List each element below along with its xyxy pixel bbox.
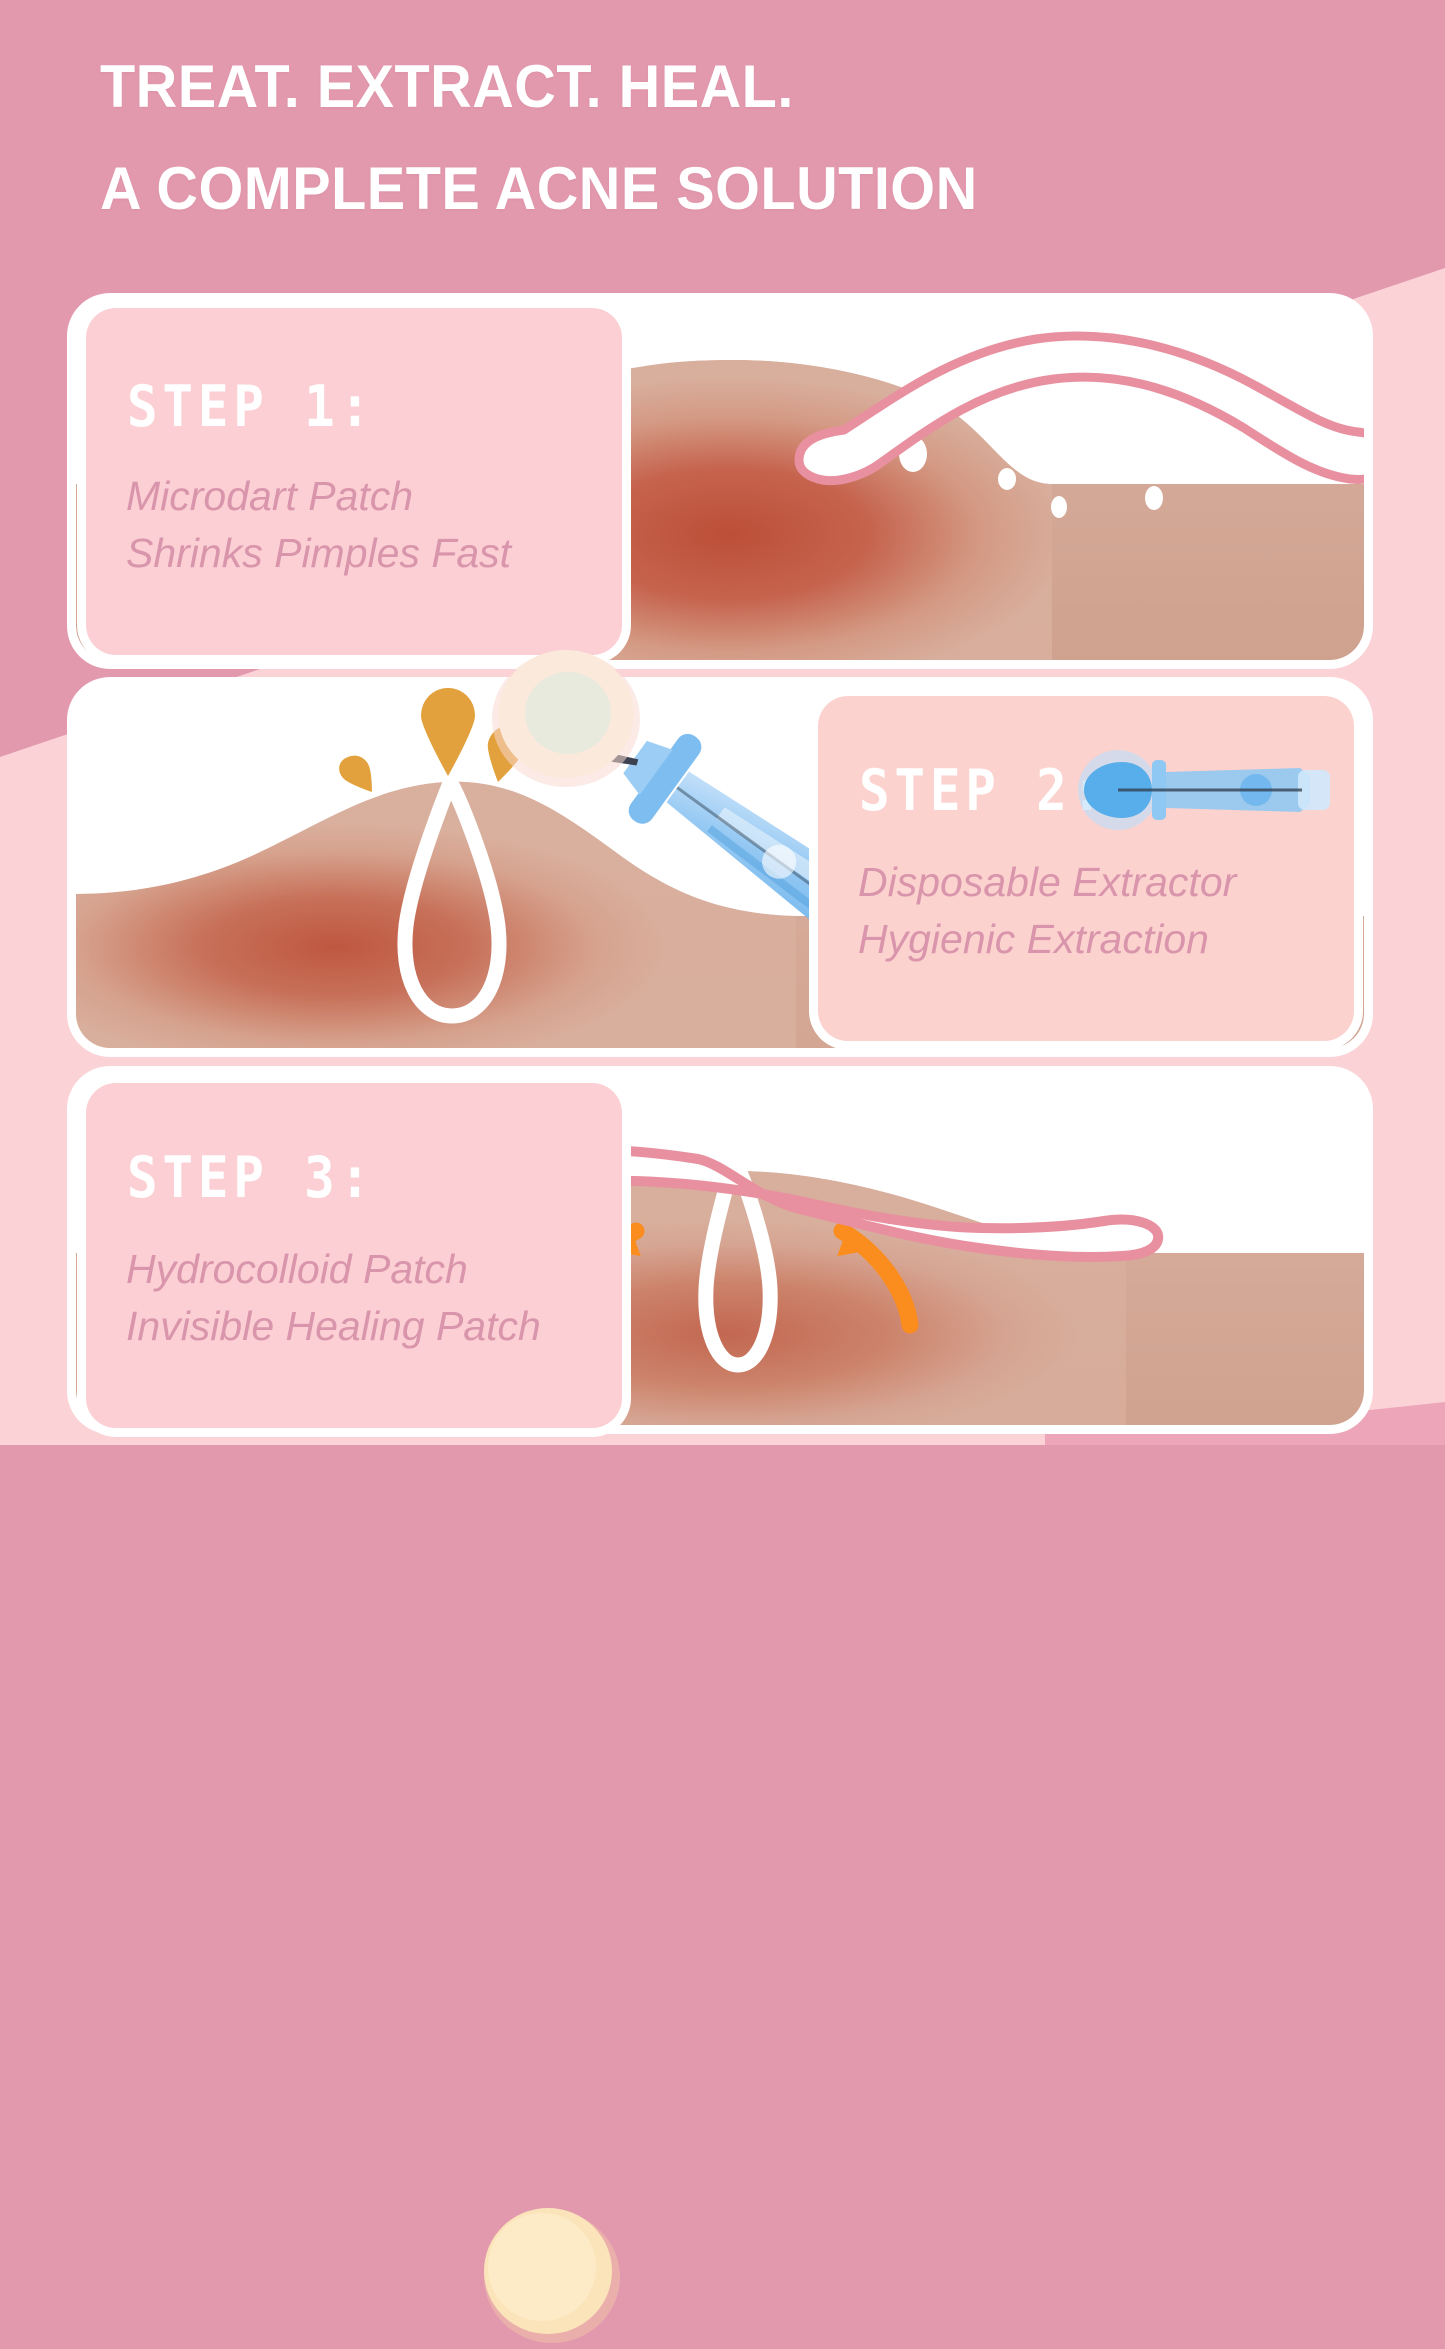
step-3-desc-line-2: Invisible Healing Patch [126, 1298, 541, 1355]
microdart-dot [1216, 424, 1232, 444]
step-3-desc-line-1: Hydrocolloid Patch [126, 1241, 541, 1298]
step-2-desc-line-1: Disposable Extractor [858, 854, 1236, 911]
hydrocolloid-patch-icon [472, 2199, 627, 2349]
step-2-text-panel: STEP 2: Disposable Extractor Hygienic Ex… [818, 696, 1354, 1041]
headline-line-2: A COMPLETE ACNE SOLUTION [100, 158, 1300, 220]
microdart-dot [1083, 390, 1117, 432]
microdart-dot [998, 468, 1016, 490]
lancet-extractor-icon [1070, 744, 1342, 836]
step-1-desc-line-1: Microdart Patch [126, 468, 511, 525]
step-1-text-panel: STEP 1: Microdart Patch Shrinks Pimples … [86, 308, 622, 655]
step-3-text-panel: STEP 3: Hydrocolloid Patch Invisible Hea… [86, 1083, 622, 1428]
step-1-description: Microdart Patch Shrinks Pimples Fast [126, 468, 511, 581]
headline-line-1: TREAT. EXTRACT. HEAL. [100, 56, 1300, 118]
microdart-dot [1180, 431, 1198, 453]
step-2-desc-line-2: Hygienic Extraction [858, 911, 1236, 968]
page-title: TREAT. EXTRACT. HEAL. A COMPLETE ACNE SO… [100, 56, 1350, 220]
microdart-patch-icon [486, 641, 646, 791]
step-2-description: Disposable Extractor Hygienic Extraction [858, 854, 1236, 967]
step-1-desc-line-2: Shrinks Pimples Fast [126, 525, 511, 582]
microdart-dot [1051, 496, 1067, 518]
microdart-dot [1145, 486, 1163, 510]
step-3-label: STEP 3: [127, 1145, 375, 1211]
step-1-label: STEP 1: [127, 374, 375, 440]
step-3-description: Hydrocolloid Patch Invisible Healing Pat… [126, 1241, 541, 1354]
